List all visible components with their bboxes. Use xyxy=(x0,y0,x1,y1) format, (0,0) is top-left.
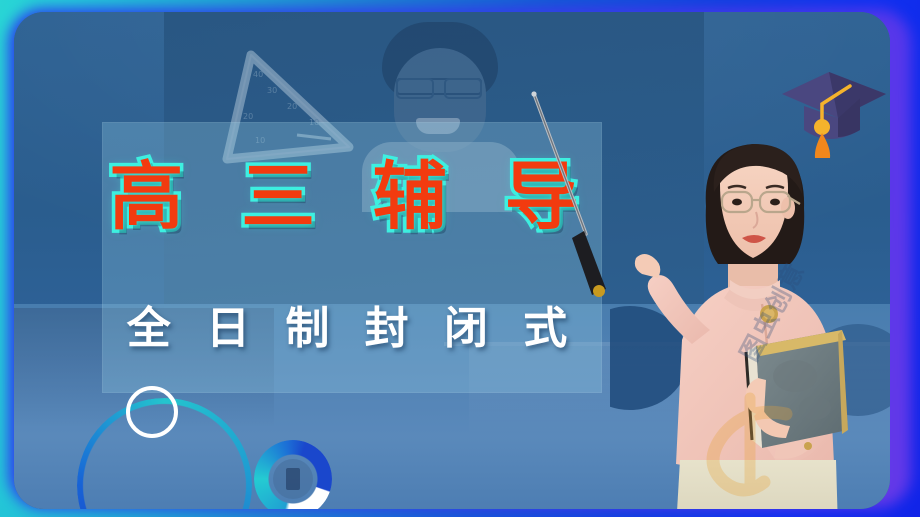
svg-text:20: 20 xyxy=(287,102,297,111)
svg-text:40: 40 xyxy=(253,70,263,79)
photo-glasses-icon xyxy=(396,78,482,95)
poster-card: 4030 2010 2010 高 三 辅 导 全 日 制 封 闭 式 xyxy=(14,12,890,509)
white-ring xyxy=(126,386,178,438)
svg-text:20: 20 xyxy=(243,112,253,121)
female-teacher-with-book xyxy=(610,108,890,509)
svg-text:30: 30 xyxy=(267,86,277,95)
telescopic-pointer-stick xyxy=(514,84,624,304)
poster-root: 4030 2010 2010 高 三 辅 导 全 日 制 封 闭 式 xyxy=(0,0,920,517)
donut-mark xyxy=(286,468,300,490)
